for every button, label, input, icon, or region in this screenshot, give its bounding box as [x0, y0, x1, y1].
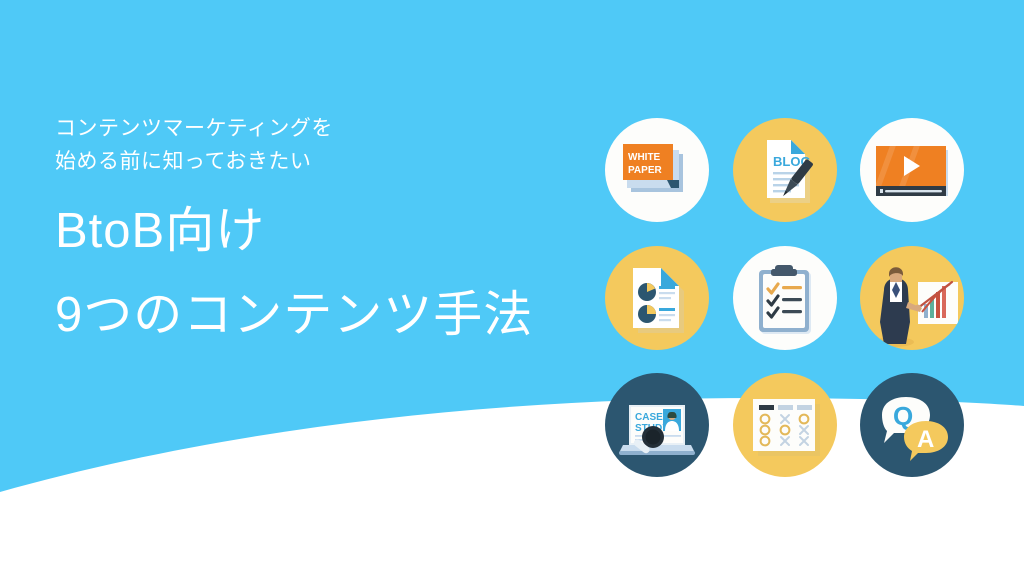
comparison-table-icon — [733, 373, 837, 477]
icon-cell-qa[interactable]: Q A — [860, 373, 964, 477]
title-line-2: 9つのコンテンツ手法 — [55, 284, 575, 346]
case-study-icon: CASE STUDY — [605, 373, 709, 477]
seminar-presenter-icon — [860, 246, 964, 350]
report-chart-icon — [605, 246, 709, 350]
blog-icon: BLOG — [733, 118, 837, 222]
icon-cell-checklist[interactable] — [733, 246, 837, 350]
icon-cell-blog[interactable]: BLOG — [733, 118, 837, 222]
icon-cell-report[interactable] — [605, 246, 709, 350]
icon-cell-white-paper[interactable]: WHITE PAPER — [605, 118, 709, 222]
title-line-1: BtoB向け — [55, 200, 575, 262]
subtitle-line-1: コンテンツマーケティングを — [55, 112, 575, 145]
video-icon — [860, 118, 964, 222]
subtitle-line-2: 始める前に知っておきたい — [55, 145, 575, 178]
content-methods-icon-grid: WHITE PAPER BLOG — [605, 118, 965, 478]
icon-cell-video[interactable] — [860, 118, 964, 222]
slide-canvas: コンテンツマーケティングを 始める前に知っておきたい BtoB向け 9つのコンテ… — [0, 0, 1024, 576]
white-paper-icon: WHITE PAPER — [605, 118, 709, 222]
white-paper-label-line-1: WHITE — [628, 152, 661, 163]
qa-bubbles-icon: Q A — [860, 373, 964, 477]
checklist-clipboard-icon — [733, 246, 837, 350]
icon-cell-case-study[interactable]: CASE STUDY — [605, 373, 709, 477]
qa-label-a: A — [917, 426, 934, 453]
case-study-label-line-1: CASE — [635, 412, 663, 423]
icon-cell-seminar[interactable] — [860, 246, 964, 350]
icon-cell-comparison[interactable] — [733, 373, 837, 477]
white-paper-label-line-2: PAPER — [628, 165, 662, 176]
headline-block: コンテンツマーケティングを 始める前に知っておきたい BtoB向け 9つのコンテ… — [55, 112, 575, 346]
